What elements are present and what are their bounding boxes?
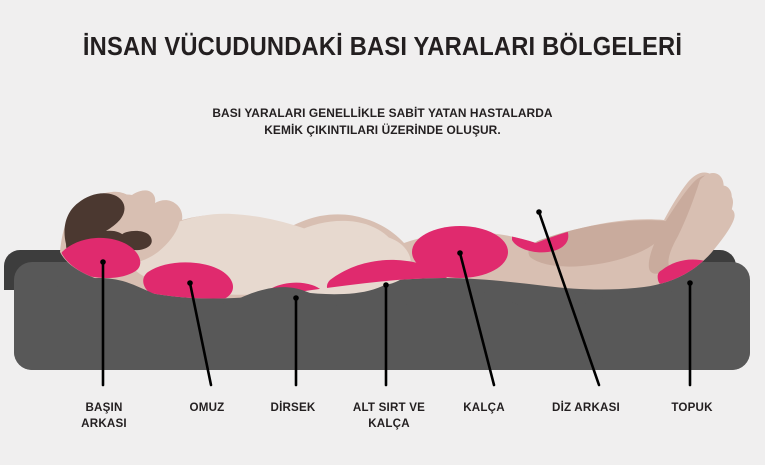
callout-label-hip[interactable]: KALÇA	[463, 400, 505, 416]
leader-dot-knee-back	[536, 209, 542, 215]
callout-label-lower-back[interactable]: ALT SIRT VE KALÇA	[353, 400, 425, 432]
infographic-root: İNSAN VÜCUDUNDAKİ BASI YARALARI BÖLGELER…	[0, 0, 765, 465]
leader-dot-heel	[687, 280, 693, 286]
leader-dot-shoulder	[187, 280, 193, 286]
leader-dot-elbow	[293, 295, 299, 301]
leader-dot-lower-back	[383, 282, 389, 288]
callout-label-heel[interactable]: TOPUK	[671, 400, 712, 416]
leader-dot-head-back	[100, 259, 106, 265]
callout-label-head-back[interactable]: BAŞIN ARKASI	[81, 400, 127, 432]
callout-label-knee-back[interactable]: DİZ ARKASI	[552, 400, 620, 416]
leader-dot-hip	[457, 250, 463, 256]
callout-label-elbow[interactable]: DİRSEK	[270, 400, 315, 416]
callout-label-shoulder[interactable]: OMUZ	[190, 400, 225, 416]
illustration-scene	[0, 0, 765, 465]
